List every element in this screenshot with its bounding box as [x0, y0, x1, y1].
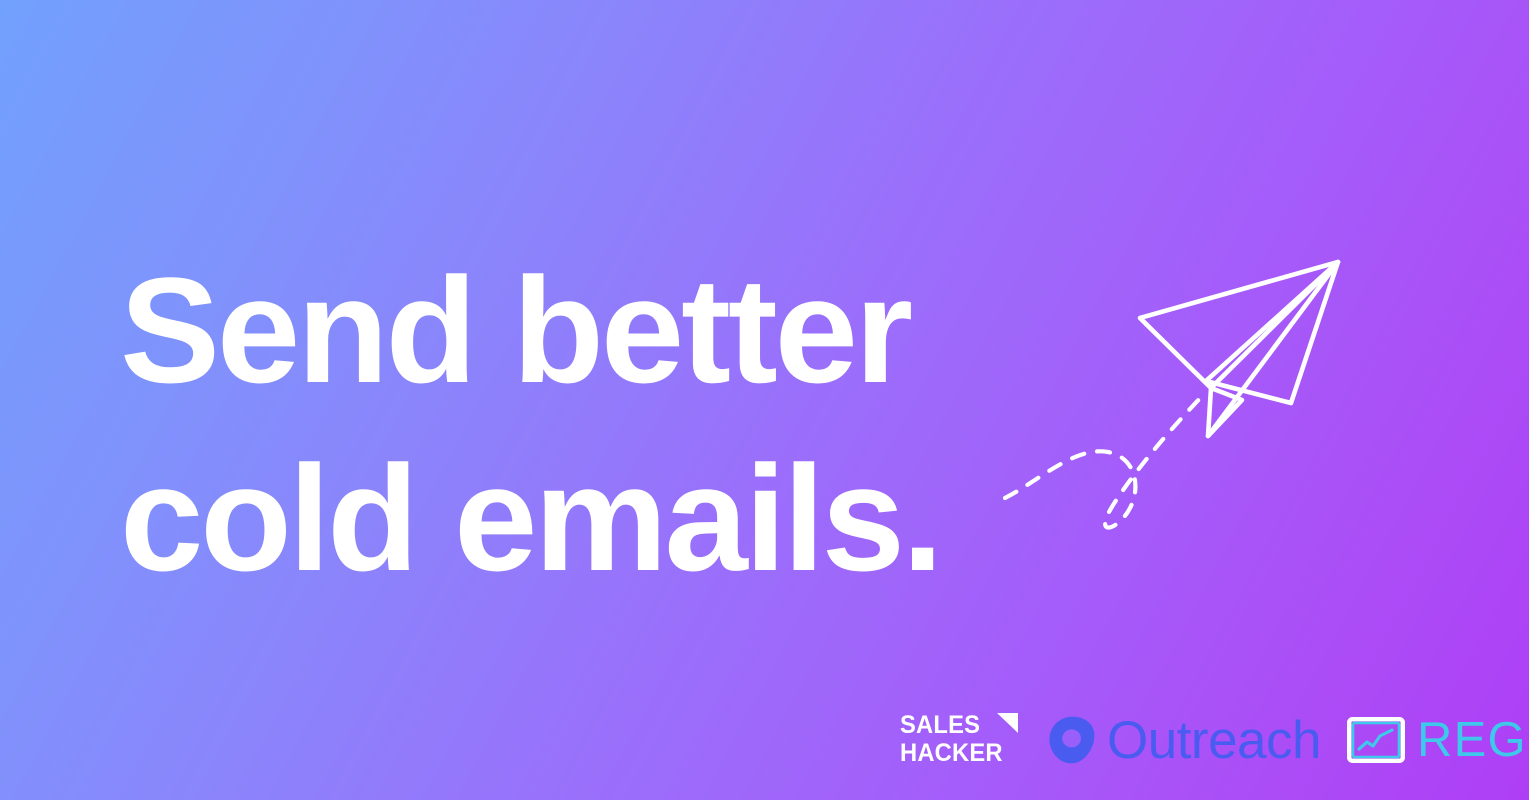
logo-sales-hacker[interactable]: SALES HACKER	[900, 711, 1018, 769]
sales-hacker-line-1: SALES	[900, 713, 980, 738]
paper-plane-icon	[1140, 262, 1338, 436]
partner-logo-bar: SALES HACKER Outreach REGIE	[900, 700, 1520, 780]
trend-chart-icon	[1347, 717, 1405, 763]
outreach-pin-icon	[1046, 714, 1098, 766]
headline-line-2: cold emails.	[120, 424, 1000, 612]
paper-plane-illustration	[980, 240, 1380, 560]
logo-outreach[interactable]: Outreach	[1046, 714, 1321, 767]
logo-regie[interactable]: REGIE	[1347, 716, 1529, 765]
plane-trail-dashed-icon	[1005, 392, 1206, 528]
regie-wordmark: REGIE	[1417, 716, 1529, 765]
page-title: Send better cold emails.	[120, 236, 1000, 612]
outreach-wordmark: Outreach	[1107, 714, 1321, 767]
promo-banner: Send better cold emails. S	[0, 0, 1529, 800]
sales-hacker-line-2: HACKER	[900, 741, 1003, 766]
headline-line-1: Send better	[120, 236, 1000, 424]
corner-triangle-icon	[997, 713, 1018, 733]
